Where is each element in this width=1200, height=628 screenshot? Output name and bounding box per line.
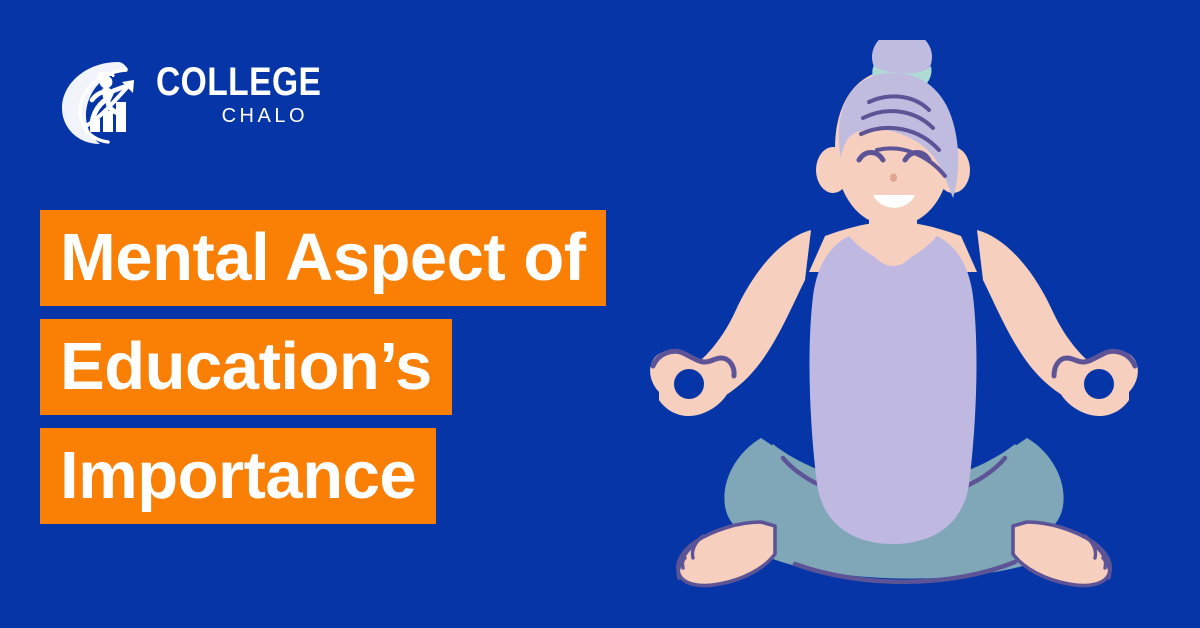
logo-wordmark: COLLEGE CHALO <box>156 62 306 142</box>
logo-secondary-text: CHALO <box>156 104 308 128</box>
meditating-woman-illustration <box>585 40 1200 628</box>
college-chalo-logo-mark-icon <box>56 56 154 148</box>
headline-line-3: Importance <box>40 428 436 524</box>
headline-line-2: Education’s <box>40 319 452 415</box>
college-chalo-logo[interactable]: COLLEGE CHALO <box>56 56 306 148</box>
torso <box>809 190 977 544</box>
logo-primary-text: COLLEGE <box>156 62 282 102</box>
headline-line-1: Mental Aspect of <box>40 210 606 306</box>
promotional-banner: COLLEGE CHALO Mental Aspect of Education… <box>0 0 1200 628</box>
figure <box>650 40 1138 586</box>
head <box>816 40 970 226</box>
